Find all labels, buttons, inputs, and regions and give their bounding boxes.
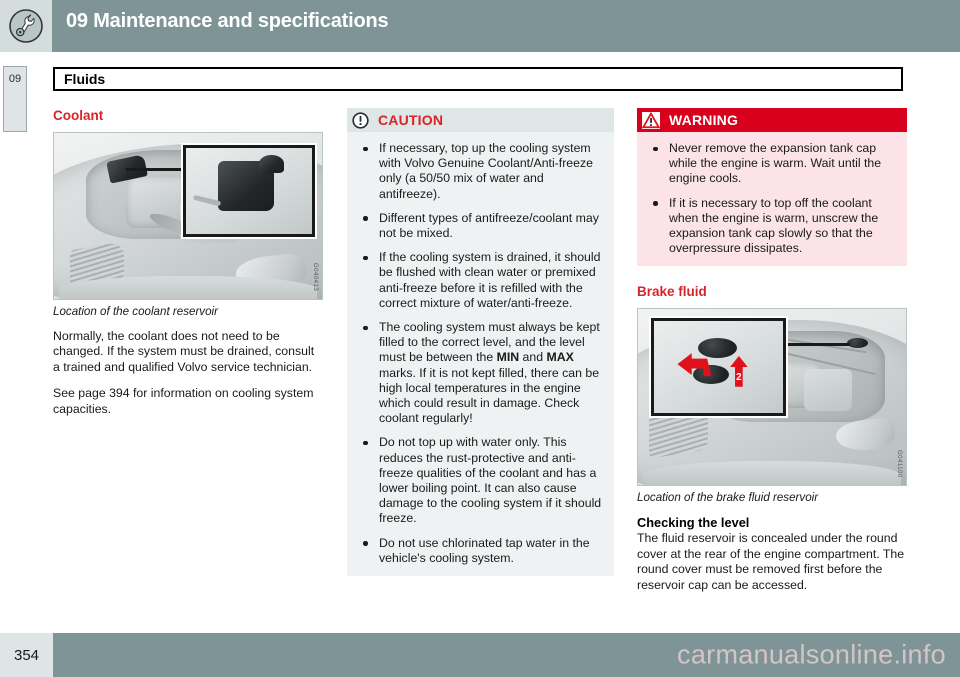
caution-bullet: Do not top up with water only. This redu… xyxy=(357,435,604,526)
callout-number: 2 xyxy=(737,372,743,383)
brake-figure-code: G041100 xyxy=(896,450,902,478)
caution-bullet: If necessary, top up the cooling system … xyxy=(357,141,604,202)
warning-bullet: Never remove the expansion tank cap whil… xyxy=(647,141,897,187)
coolant-figure-code: G040413 xyxy=(312,263,318,291)
coolant-paragraph-1: Normally, the coolant does not need to b… xyxy=(53,329,323,375)
chapter-icon-box xyxy=(0,0,52,52)
warning-triangle-icon xyxy=(642,112,660,129)
caution-header: CAUTION xyxy=(347,108,614,132)
warning-box: WARNING Never remove the expansion tank … xyxy=(637,108,907,266)
caution-bullet-list: If necessary, top up the cooling system … xyxy=(347,132,614,566)
expansion-tank-cap-shape xyxy=(259,155,284,172)
page-footer: 354 carmanualsonline.info xyxy=(0,633,960,677)
front-bumper-shape xyxy=(59,276,316,300)
engine-block-secondary-shape xyxy=(804,369,852,411)
brake-callout-box: 2 xyxy=(651,318,786,416)
section-title: Fluids xyxy=(64,71,105,87)
caution-bullet: Different types of antifreeze/coolant ma… xyxy=(357,211,604,241)
coolant-heading: Coolant xyxy=(53,108,323,123)
coolant-figure-caption: Location of the coolant reservoir xyxy=(53,305,323,318)
coolant-figure: G040413 xyxy=(53,132,323,300)
warning-bullet: If it is necessary to top off the coolan… xyxy=(647,196,897,257)
left-column: Coolant G040413 Location of the coolant … xyxy=(53,108,323,428)
exclamation-circle-icon xyxy=(352,112,369,129)
coolant-paragraph-2: See page 394 for information on cooling … xyxy=(53,386,323,417)
section-title-bar: Fluids xyxy=(53,67,903,91)
right-column: WARNING Never remove the expansion tank … xyxy=(637,108,907,604)
front-bumper-shape xyxy=(643,461,900,487)
warning-bullet-list: Never remove the expansion tank cap whil… xyxy=(637,132,907,256)
checking-the-level-paragraph: The fluid reservoir is concealed under t… xyxy=(637,531,907,593)
chapter-side-tab[interactable]: 09 xyxy=(3,66,27,132)
warning-header: WARNING xyxy=(637,108,907,132)
chapter-side-tab-label: 09 xyxy=(9,73,21,85)
caution-bullet: The cooling system must always be kept f… xyxy=(357,320,604,426)
callout-leader-line xyxy=(777,343,849,346)
caution-bullet: Do not use chlorinated tap water in the … xyxy=(357,536,604,566)
brake-figure-caption: Location of the brake fluid reservoir xyxy=(637,491,907,504)
callout-leader-line xyxy=(126,168,188,171)
warning-title: WARNING xyxy=(669,112,738,128)
caution-bullet: If the cooling system is drained, it sho… xyxy=(357,250,604,311)
page-title: 09 Maintenance and specifications xyxy=(66,10,388,33)
page-number-box: 354 xyxy=(0,633,53,677)
wrench-gear-icon xyxy=(8,8,44,44)
brake-fluid-figure: 2 G041100 xyxy=(637,308,907,486)
page-number: 354 xyxy=(14,647,39,664)
brake-fluid-heading: Brake fluid xyxy=(637,284,907,299)
coolant-callout-box xyxy=(183,145,315,237)
caution-box: CAUTION If necessary, top up the cooling… xyxy=(347,108,614,576)
watermark-text: carmanualsonline.info xyxy=(677,640,946,671)
checking-the-level-heading: Checking the level xyxy=(637,515,907,530)
page-header: 09 Maintenance and specifications xyxy=(0,0,960,52)
caution-title: CAUTION xyxy=(378,112,443,128)
lift-arrow-icon: 2 xyxy=(726,356,752,389)
rotate-arrow-icon xyxy=(666,352,717,385)
middle-column: CAUTION If necessary, top up the cooling… xyxy=(347,108,614,576)
